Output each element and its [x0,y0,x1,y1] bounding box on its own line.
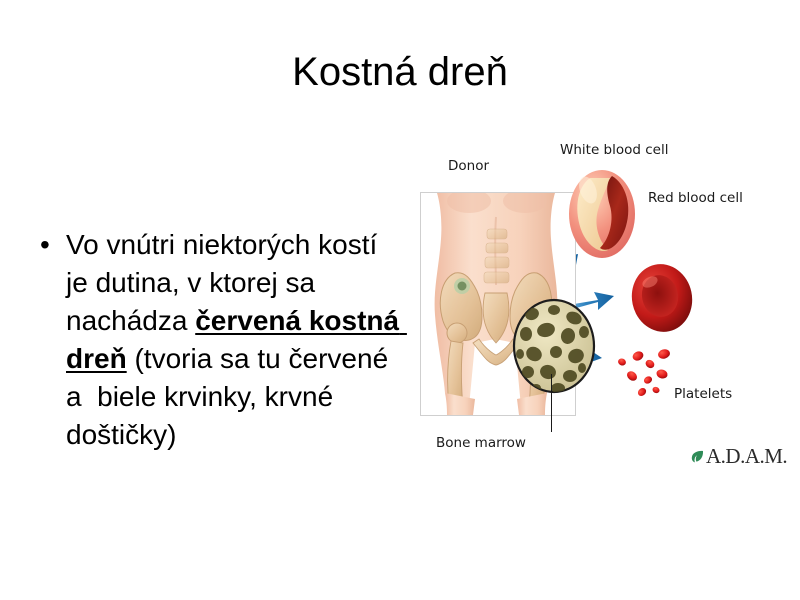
figure-label-red-blood-cell: Red blood cell [648,190,743,206]
page-title: Kostná dreň [0,46,800,98]
red-blood-cell-illustration [624,260,700,336]
figure-label-platelets: Platelets [674,386,732,402]
adam-logo: A.D.A.M. [690,445,787,467]
slide-root: { "slide": { "title": "Kostná dreň", "ba… [0,0,800,600]
bone-marrow-magnification [512,298,596,394]
bullet-paragraph: Vo vnútri niektorých kostí je dutina, v … [66,226,400,454]
bullet-list-item: • Vo vnútri niektorých kostí je dutina, … [40,226,400,454]
bullet-marker: • [40,226,66,264]
figure-label-donor: Donor [448,158,489,174]
white-blood-cell-illustration [564,162,640,262]
leaf-icon [690,449,705,464]
figure-label-bone-marrow: Bone marrow [436,435,526,451]
bone-marrow-figure: Donor White blood cell Red blood cell Pl… [412,130,800,490]
adam-wordmark: A.D.A.M. [706,446,787,467]
body-content: • Vo vnútri niektorých kostí je dutina, … [40,226,400,454]
aspiration-site-marker [454,278,470,294]
bone-marrow-leader-line [551,374,552,432]
figure-label-white-blood-cell: White blood cell [560,142,668,158]
